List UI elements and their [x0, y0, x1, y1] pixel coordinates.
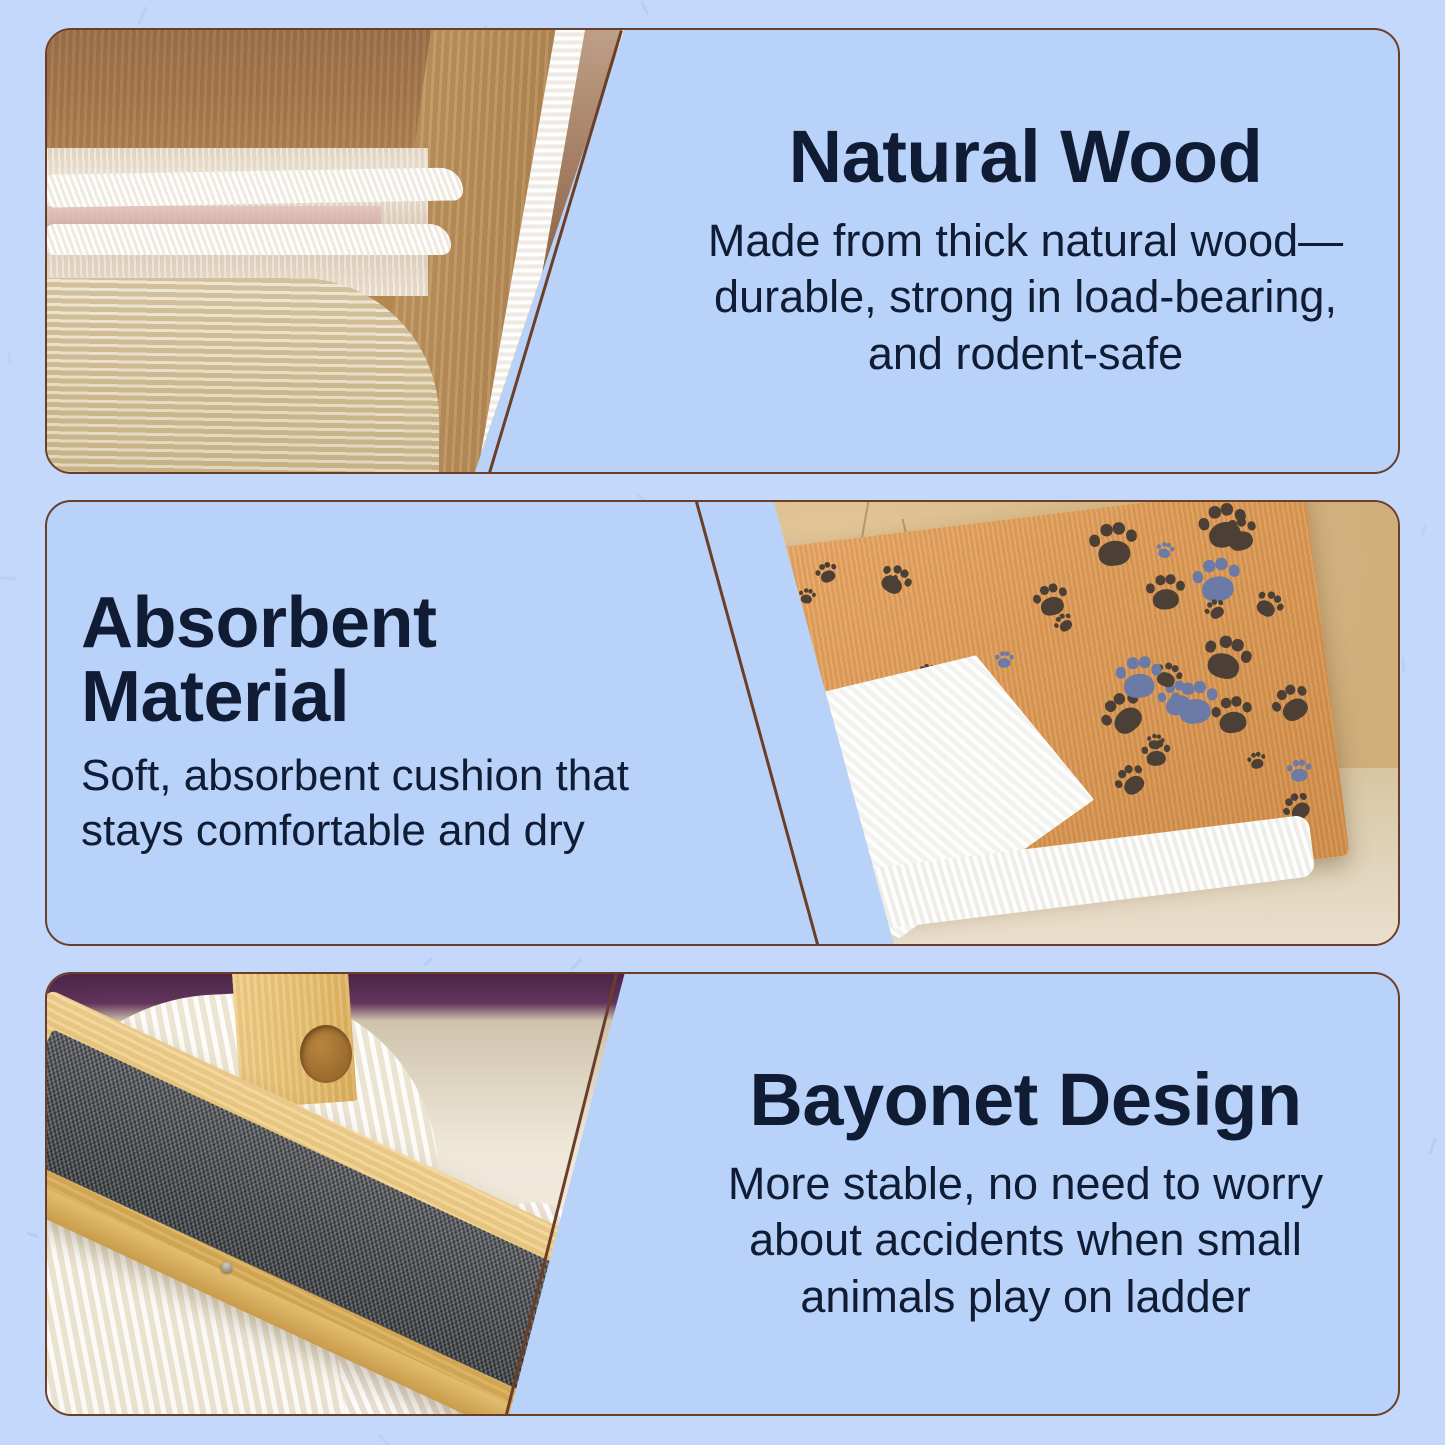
screw-icon	[569, 1254, 584, 1269]
absorbent-material-photo	[688, 500, 1400, 946]
natural-wood-copy-block: Natural Wood Made from thick natural woo…	[687, 30, 1364, 472]
feature-card-natural-wood: Natural Wood Made from thick natural woo…	[45, 28, 1400, 474]
natural-wood-headline: Natural Wood	[789, 119, 1263, 194]
paw-print-icon	[1195, 626, 1258, 685]
bayonet-design-photo	[45, 972, 625, 1416]
natural-wood-photo	[45, 28, 625, 474]
paw-print-icon	[1083, 516, 1142, 569]
paw-print-icon	[1138, 737, 1172, 767]
paw-print-icon	[1248, 583, 1289, 623]
paw-print-icon	[1244, 749, 1268, 771]
bayonet-design-copy-block: Bayonet Design More stable, no need to w…	[687, 974, 1364, 1414]
feature-card-bayonet-design: Bayonet Design More stable, no need to w…	[45, 972, 1400, 1416]
paw-print-icon	[810, 557, 840, 586]
paw-print-icon	[1262, 675, 1318, 729]
bayonet-design-headline: Bayonet Design	[749, 1062, 1301, 1137]
natural-wood-body: Made from thick natural wood—durable, st…	[687, 213, 1364, 383]
paw-print-icon	[1110, 651, 1165, 699]
absorbent-material-headline: Absorbent Material	[81, 587, 698, 734]
paw-print-icon	[1141, 570, 1187, 611]
absorbent-material-copy-block: Absorbent Material Soft, absorbent cushi…	[81, 502, 698, 944]
product-feature-infographic: Natural Wood Made from thick natural woo…	[0, 0, 1445, 1445]
paw-print-icon	[736, 625, 756, 644]
paw-print-icon	[754, 681, 815, 738]
bayonet-design-body: More stable, no need to worry about acci…	[687, 1156, 1364, 1326]
absorbent-material-body: Soft, absorbent cushion that stays comfo…	[81, 748, 698, 859]
paw-print-icon	[714, 598, 756, 636]
paw-print-icon	[1284, 757, 1313, 783]
paw-print-icon	[796, 586, 817, 605]
paw-print-icon	[993, 650, 1013, 668]
paw-print-icon	[1154, 539, 1176, 559]
feature-card-absorbent-material: Absorbent Material Soft, absorbent cushi…	[45, 500, 1400, 946]
